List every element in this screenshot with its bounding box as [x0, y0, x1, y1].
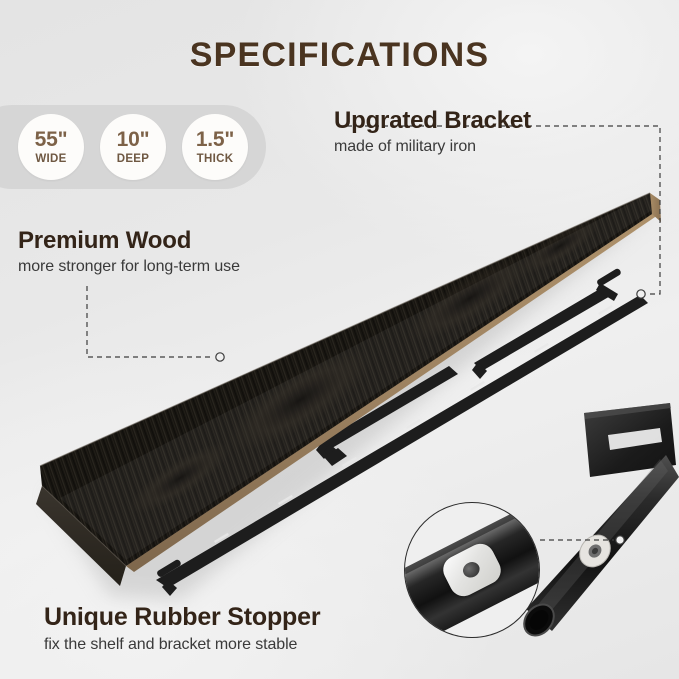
leader-line-wood	[87, 286, 214, 357]
leader-endpoint-bracket	[637, 290, 645, 298]
annotation-wood-heading: Premium Wood	[18, 228, 240, 254]
annotation-wood-subtext: more stronger for long-term use	[18, 257, 240, 277]
annotation-stopper: Unique Rubber Stopper fix the shelf and …	[44, 604, 320, 655]
annotation-bracket: Upgrated Bracket made of military iron	[334, 108, 531, 157]
annotation-wood: Premium Wood more stronger for long-term…	[18, 228, 240, 277]
annotation-stopper-heading: Unique Rubber Stopper	[44, 604, 320, 632]
specifications-infographic: SPECIFICATIONS 55" WIDE 10" DEEP 1.5" TH…	[0, 0, 679, 679]
leader-endpoint-stopper	[616, 536, 624, 544]
annotation-stopper-subtext: fix the shelf and bracket more stable	[44, 635, 320, 655]
leader-endpoint-wood	[216, 353, 224, 361]
annotation-bracket-heading: Upgrated Bracket	[334, 108, 531, 134]
annotation-bracket-subtext: made of military iron	[334, 137, 531, 157]
leader-lines	[0, 0, 679, 679]
